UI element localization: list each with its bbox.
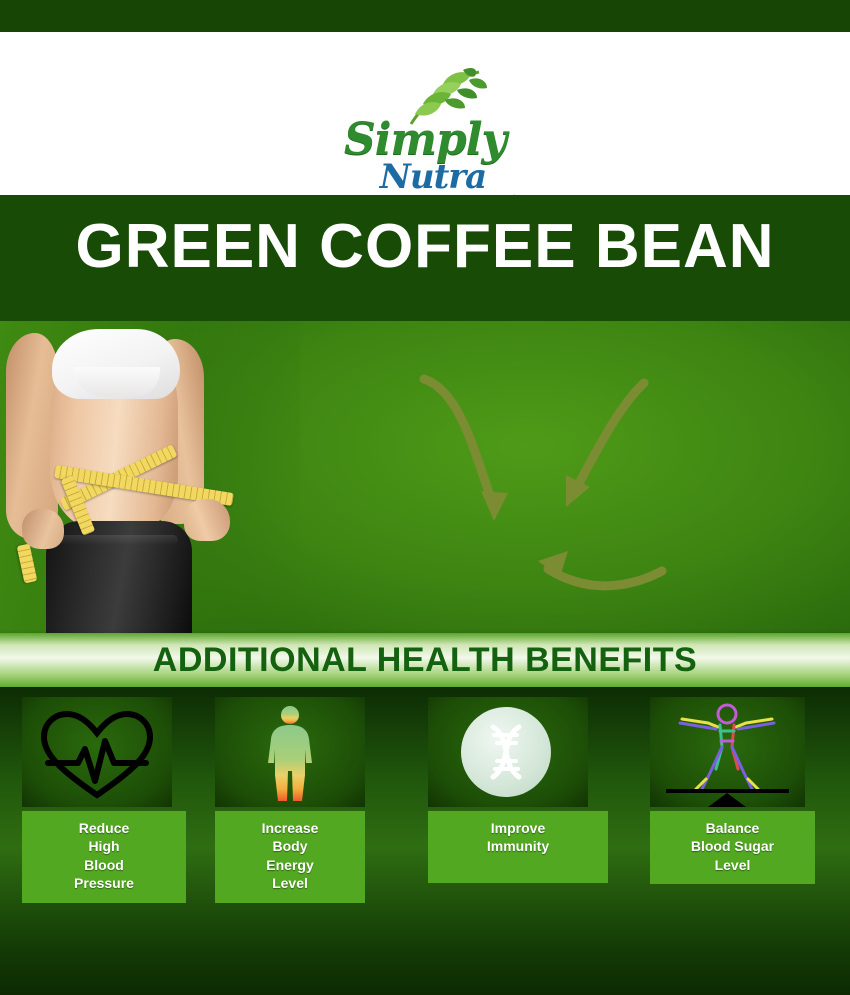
infographic-page: Simply Nutra GREEN COFFEE BEAN	[0, 0, 850, 995]
benefit-card-blood-pressure[interactable]: Reduce High Blood Pressure	[22, 697, 202, 892]
right-hand	[184, 499, 230, 541]
benefits-banner-title: ADDITIONAL HEALTH BENEFITS	[0, 641, 850, 680]
caption-line: Reduce	[26, 819, 182, 837]
page-title: GREEN COFFEE BEAN	[0, 216, 850, 278]
caption-line: Pressure	[26, 874, 182, 892]
benefit-card-energy-level[interactable]: Increase Body Energy Level	[215, 697, 395, 892]
benefits-section: Reduce High Blood Pressure	[0, 687, 850, 995]
leggings-waistband	[60, 535, 178, 545]
logo-band: Simply Nutra	[0, 32, 850, 195]
dna-icon-circle	[461, 707, 551, 797]
caption-line: Blood	[26, 856, 182, 874]
caption-line: Body	[219, 837, 361, 855]
caption-line: High	[26, 837, 182, 855]
hero-section: RAW UNROASTED CHLOROGENIC ACID LOOSE WEI…	[0, 321, 850, 633]
caption-line: Increase	[219, 819, 361, 837]
brand-name-simply: Simply	[325, 118, 525, 162]
caption-line: Level	[654, 856, 811, 874]
benefit-caption: Reduce High Blood Pressure	[22, 811, 186, 903]
balance-figure-icon	[650, 697, 805, 807]
benefit-caption: Increase Body Energy Level	[215, 811, 365, 903]
left-hand	[22, 509, 64, 549]
benefit-caption: Balance Blood Sugar Level	[650, 811, 815, 884]
heart-pulse-icon	[22, 697, 172, 807]
caption-line: Level	[219, 874, 361, 892]
caption-line: Immunity	[432, 837, 604, 855]
body-silhouette-icon	[215, 697, 365, 807]
benefit-caption: Improve Immunity	[428, 811, 608, 883]
caption-line: Energy	[219, 856, 361, 874]
caption-line: Improve	[432, 819, 604, 837]
top-border-bar	[0, 0, 850, 32]
dna-helix-icon	[428, 697, 588, 807]
benefit-card-blood-sugar[interactable]: Balance Blood Sugar Level	[650, 697, 830, 892]
measuring-tape-tail	[17, 544, 38, 584]
benefit-card-immunity[interactable]: Improve Immunity	[428, 697, 608, 892]
caption-line: Balance	[654, 819, 811, 837]
caption-line: Blood Sugar	[654, 837, 811, 855]
woman-measuring-waist-photo	[0, 321, 292, 633]
